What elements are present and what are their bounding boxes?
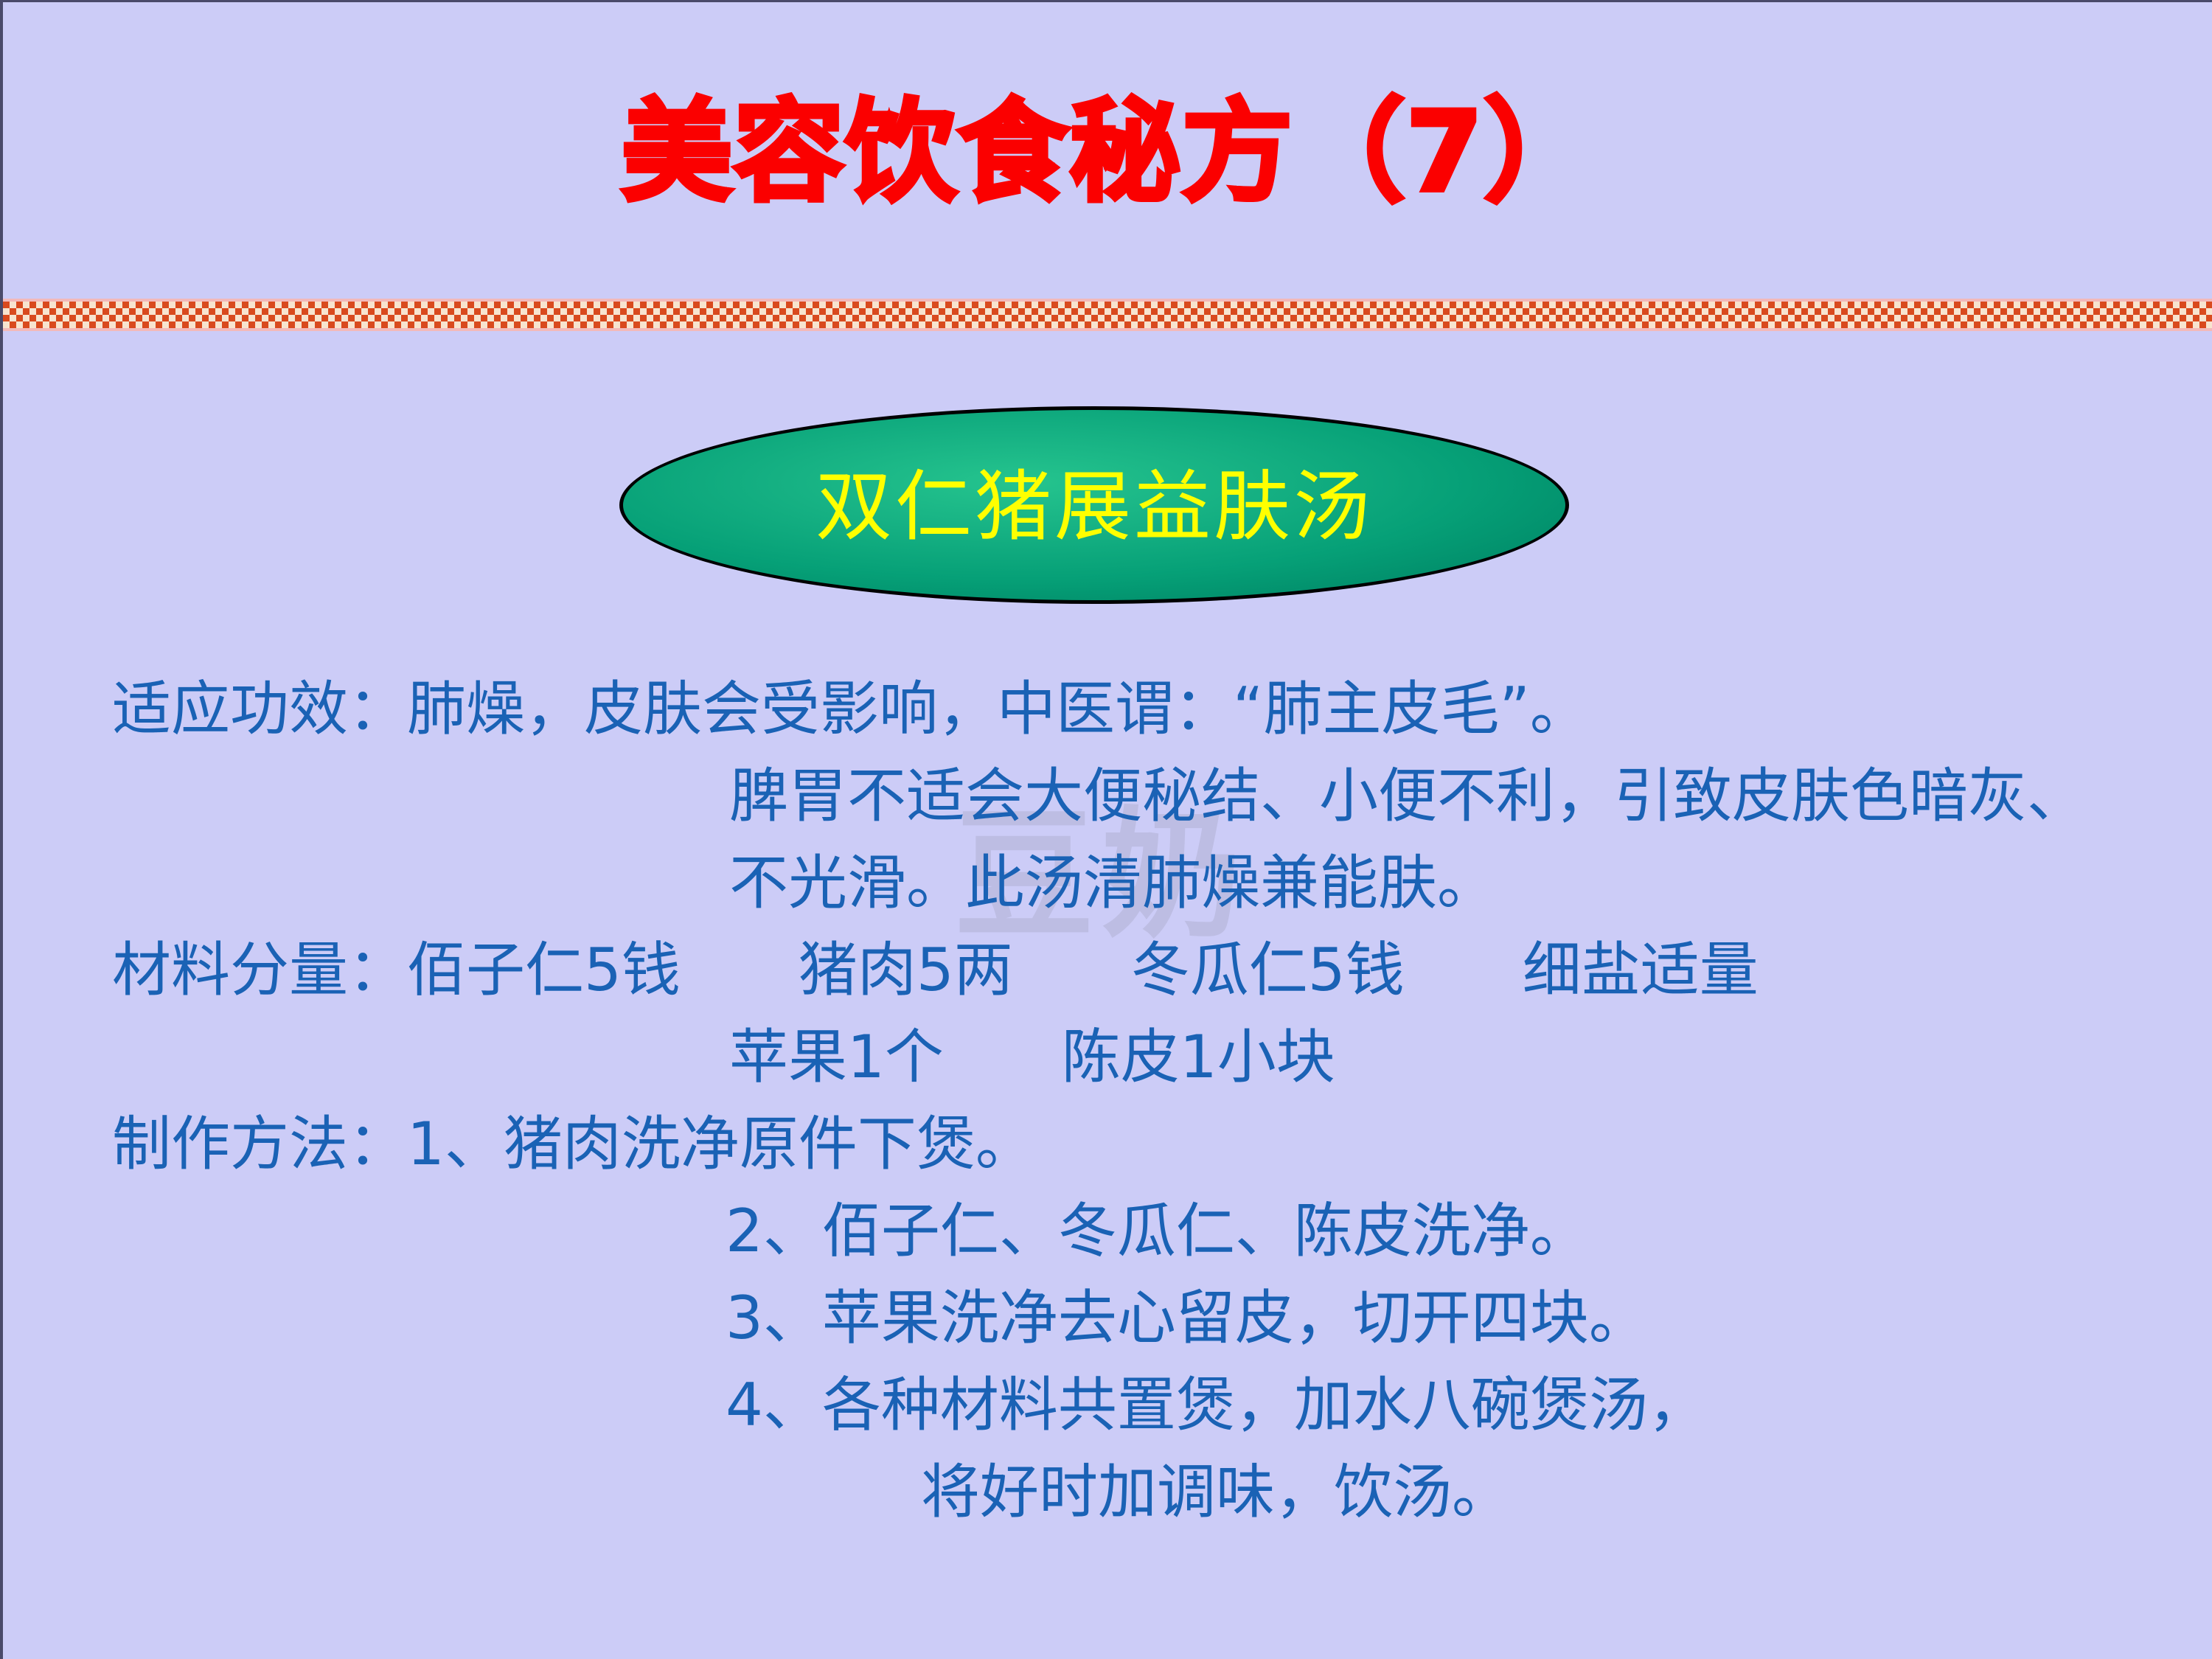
- recipe-name-label: 双仁猪展益肤汤: [815, 468, 1373, 545]
- page-title: 美容饮食秘方（7）: [622, 89, 1596, 217]
- content-line: 不光滑。此汤清肺燥兼能肤。: [3, 840, 2212, 927]
- content-line: 2、佰子仁、冬瓜仁、陈皮洗净。: [3, 1188, 2212, 1275]
- body-content: 适应功效：肺燥，皮肤会受影响，中医谓：“肺主皮毛”。脾胃不适会大便秘结、小便不利…: [3, 666, 2212, 1536]
- content-line: 脾胃不适会大便秘结、小便不利，引致皮肤色暗灰、: [3, 753, 2212, 840]
- slide-title-container: 美容饮食秘方（7）: [3, 89, 2212, 217]
- content-line: 3、苹果洗净去心留皮，切开四块。: [3, 1275, 2212, 1362]
- content-line: 苹果1个 陈皮1小块: [3, 1014, 2212, 1101]
- decorative-checkered-divider: [3, 302, 2212, 328]
- content-line: 制作方法：1、猪肉洗净原件下煲。: [3, 1101, 2212, 1188]
- content-line: 适应功效：肺燥，皮肤会受影响，中医谓：“肺主皮毛”。: [3, 666, 2212, 753]
- recipe-name-badge: 双仁猪展益肤汤: [619, 406, 1569, 604]
- divider-highlight-bottom: [3, 328, 2212, 331]
- content-line: 材料分量：佰子仁5钱 猪肉5两 冬瓜仁5钱 细盐适量: [3, 927, 2212, 1014]
- content-line: 将好时加调味，饮汤。: [3, 1449, 2212, 1536]
- content-line: 4、各种材料共置煲，加水八碗煲汤，: [3, 1362, 2212, 1449]
- slide-canvas: 美容饮食秘方（7） 豆奶 双仁猪展益肤汤 适应功效：肺燥，皮肤会受影响，中医谓：…: [0, 0, 2212, 1659]
